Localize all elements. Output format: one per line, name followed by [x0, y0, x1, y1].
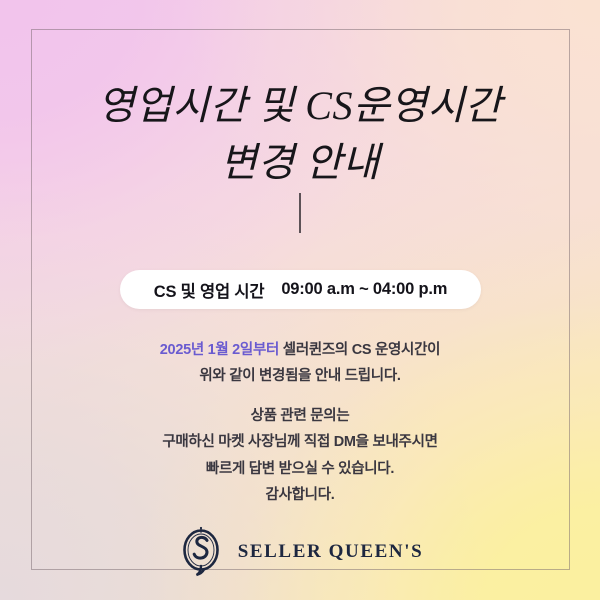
notice-effective-date: 2025년 1월 2일부터 — [160, 342, 279, 358]
brand-logo: SELLER QUEEN'S — [0, 524, 600, 580]
business-hours-value: 09:00 a.m ~ 04:00 p.m — [281, 280, 447, 299]
notice-line-1-rest: 셀러퀸즈의 CS 운영시간이 — [279, 342, 440, 358]
notice-line-2: 위와 같이 변경됨을 안내 드립니다. — [0, 364, 600, 390]
business-hours-label: CS 및 영업 시간 — [154, 278, 265, 302]
sq-monogram-icon — [177, 526, 225, 578]
message-line: 상품 관련 문의는 — [0, 403, 600, 429]
title-divider-rule — [299, 193, 301, 233]
message-line: 빠르게 답변 받으실 수 있습니다. — [0, 456, 600, 482]
brand-name: SELLER QUEEN'S — [238, 541, 424, 563]
notice-line-1: 2025년 1월 2일부터 셀러퀸즈의 CS 운영시간이 — [160, 342, 440, 358]
inquiry-message-paragraph: 상품 관련 문의는 구매하신 마켓 사장님께 직접 DM을 보내주시면 빠르게 … — [0, 403, 600, 509]
message-line: 구매하신 마켓 사장님께 직접 DM을 보내주시면 — [0, 429, 600, 455]
message-line: 감사합니다. — [0, 482, 600, 508]
notice-poster: 영업시간 및 CS운영시간 변경 안내 CS 및 영업 시간 09:00 a.m… — [0, 0, 600, 600]
page-title: 영업시간 및 CS운영시간 변경 안내 — [0, 78, 600, 192]
business-hours-badge: CS 및 영업 시간 09:00 a.m ~ 04:00 p.m — [120, 270, 481, 309]
change-notice-paragraph: 2025년 1월 2일부터 셀러퀸즈의 CS 운영시간이 위와 같이 변경됨을 … — [0, 338, 600, 390]
poster-content: 영업시간 및 CS운영시간 변경 안내 CS 및 영업 시간 09:00 a.m… — [0, 0, 600, 600]
